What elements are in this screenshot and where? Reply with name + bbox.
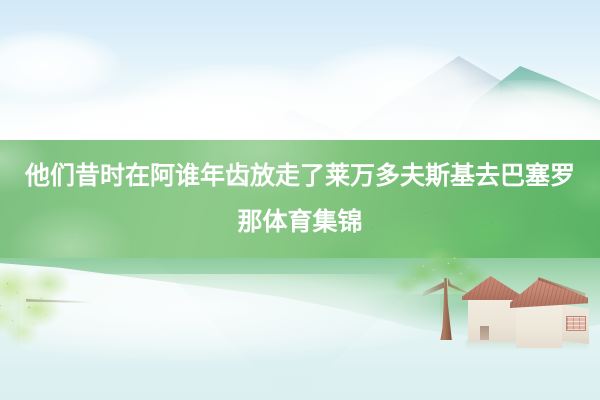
aqua-wash <box>150 258 450 400</box>
sky-background <box>0 0 600 142</box>
hillside-mist <box>20 274 440 360</box>
banner-image: 他们昔时在阿谁年齿放走了莱万多夫斯基去巴塞罗 那体育集锦 <box>0 0 600 400</box>
grass-hillside <box>0 258 600 374</box>
ground-area <box>0 258 600 400</box>
headline-line-2: 那体育集锦 <box>237 199 362 245</box>
headline-line-1: 他们昔时在阿谁年齿放走了莱万多夫斯基去巴塞罗 <box>25 153 575 199</box>
hillside-edge <box>300 294 600 352</box>
headline: 他们昔时在阿谁年齿放走了莱万多夫斯基去巴塞罗 那体育集锦 <box>0 140 600 258</box>
